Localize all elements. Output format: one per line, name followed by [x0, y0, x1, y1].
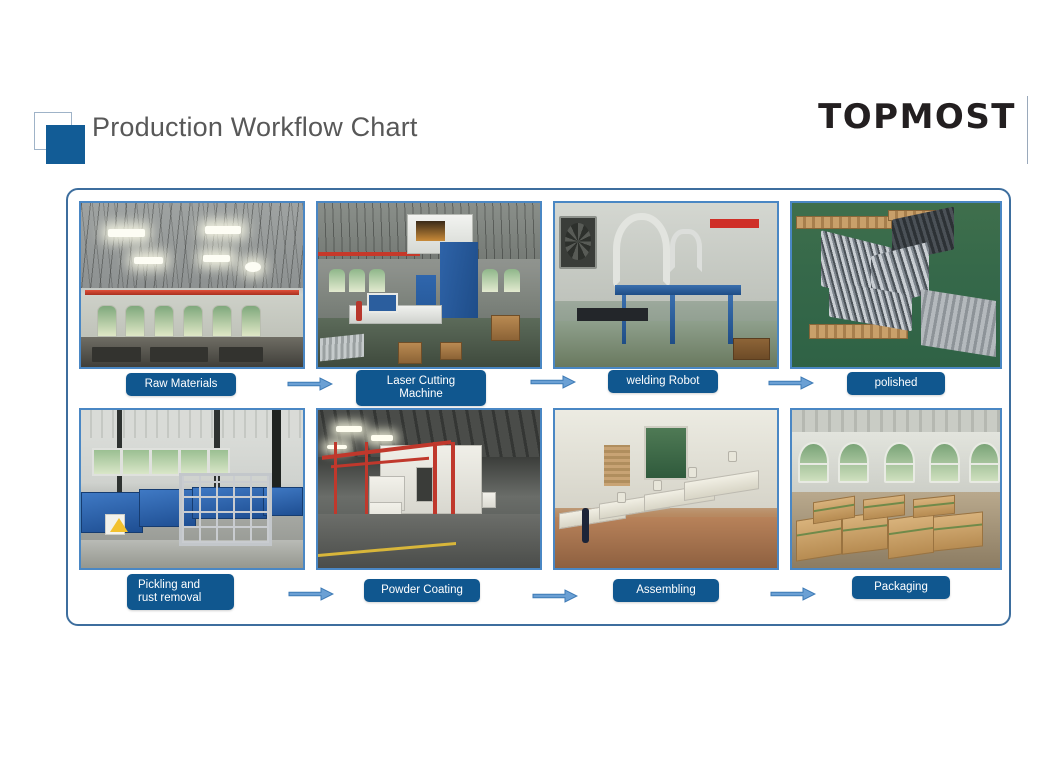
brand-wordmark: TOPMOST	[818, 100, 1016, 134]
workflow-frame: Raw Materials Laser Cutting Machine weld…	[66, 188, 1011, 626]
right-arrow-icon	[770, 586, 816, 602]
workflow-step-card[interactable]	[790, 201, 1002, 369]
scene-warehouse	[81, 203, 303, 367]
logo-solid-square	[46, 125, 85, 164]
right-arrow-icon	[768, 375, 814, 391]
workflow-step-card[interactable]	[79, 408, 305, 570]
step-photo-assembling	[553, 408, 779, 570]
step-label-powder-coating[interactable]: Powder Coating	[364, 579, 480, 602]
workflow-step-card[interactable]	[553, 201, 779, 369]
workflow-step-card[interactable]	[316, 201, 542, 369]
workflow-step-card[interactable]	[316, 408, 542, 570]
right-arrow-icon	[287, 376, 333, 392]
workflow-step-card[interactable]	[79, 201, 305, 369]
scene-welding-robot	[555, 203, 777, 367]
step-photo-packaging	[790, 408, 1002, 570]
right-arrow-icon	[530, 374, 576, 390]
slide-page: Production Workflow Chart TOPMOST	[0, 0, 1060, 762]
scene-polished-parts	[792, 203, 1000, 367]
step-photo-powder-coating	[316, 408, 542, 570]
scene-laser-cutting	[318, 203, 540, 367]
step-label-pickling-and-rust-removal[interactable]: Pickling and rust removal	[127, 574, 234, 610]
scene-packaging	[792, 410, 1000, 568]
step-label-welding-robot[interactable]: welding Robot	[608, 370, 718, 393]
workflow-step-card[interactable]	[790, 408, 1002, 570]
slide-header: Production Workflow Chart TOPMOST	[0, 0, 1060, 180]
step-photo-polished	[790, 201, 1002, 369]
step-label-packaging[interactable]: Packaging	[852, 576, 950, 599]
step-label-polished[interactable]: polished	[847, 372, 945, 395]
step-photo-pickling	[79, 408, 305, 570]
page-title: Production Workflow Chart	[92, 112, 418, 143]
workflow-grid: Raw Materials Laser Cutting Machine weld…	[68, 190, 1009, 624]
step-label-raw-materials[interactable]: Raw Materials	[126, 373, 236, 396]
step-photo-welding-robot	[553, 201, 779, 369]
right-arrow-icon	[288, 586, 334, 602]
scene-powder-coating	[318, 410, 540, 568]
right-arrow-icon	[532, 588, 578, 604]
double-square-logo-icon	[34, 112, 90, 164]
step-photo-laser-cutting	[316, 201, 542, 369]
step-label-laser-cutting-machine[interactable]: Laser Cutting Machine	[356, 370, 486, 406]
step-photo-raw-materials	[79, 201, 305, 369]
brand-logo: TOPMOST	[818, 100, 1016, 160]
workflow-step-card[interactable]	[553, 408, 779, 570]
brand-divider	[1027, 96, 1029, 164]
step-label-assembling[interactable]: Assembling	[613, 579, 719, 602]
scene-pickling-tanks	[81, 410, 303, 568]
scene-assembling	[555, 410, 777, 568]
